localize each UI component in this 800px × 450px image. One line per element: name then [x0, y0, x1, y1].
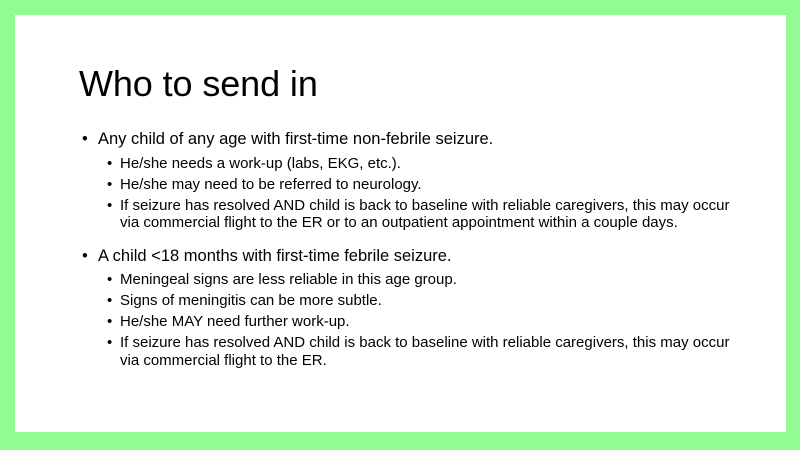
bullet-level1-text: A child <18 months with first-time febri…	[98, 247, 452, 265]
bullet-level2: • He/she may need to be referred to neur…	[79, 176, 744, 194]
bullet-level2-text: If seizure has resolved AND child is bac…	[120, 334, 744, 369]
bullet-dot-icon: •	[107, 176, 112, 194]
bullet-level2: • If seizure has resolved AND child is b…	[79, 334, 744, 369]
bullet-dot-icon: •	[82, 245, 88, 268]
bullet-level2: • He/she MAY need further work-up.	[79, 313, 744, 331]
bullet-dot-icon: •	[107, 313, 112, 331]
bullet-level2: • He/she needs a work-up (labs, EKG, etc…	[79, 155, 744, 173]
page-title: Who to send in	[79, 62, 739, 106]
bullet-dot-icon: •	[107, 292, 112, 310]
bullet-dot-icon: •	[107, 271, 112, 289]
bullet-dot-icon: •	[107, 197, 112, 215]
bullet-level2: • Signs of meningitis can be more subtle…	[79, 292, 744, 310]
bullet-level2: • If seizure has resolved AND child is b…	[79, 197, 744, 232]
bullet-dot-icon: •	[107, 334, 112, 352]
bullet-group: • Any child of any age with first-time n…	[79, 128, 744, 232]
slide-body: • Any child of any age with first-time n…	[79, 128, 744, 369]
bullet-group: • A child <18 months with first-time feb…	[79, 245, 744, 370]
slide-frame: Who to send in • Any child of any age wi…	[0, 0, 800, 450]
slide-canvas: Who to send in • Any child of any age wi…	[15, 15, 786, 432]
bullet-level2-text: He/she MAY need further work-up.	[120, 313, 744, 331]
bullet-level2: • Meningeal signs are less reliable in t…	[79, 271, 744, 289]
bullet-level2-text: He/she needs a work-up (labs, EKG, etc.)…	[120, 155, 744, 173]
bullet-dot-icon: •	[82, 128, 88, 151]
bullet-dot-icon: •	[107, 155, 112, 173]
bullet-level1-text: Any child of any age with first-time non…	[98, 130, 493, 148]
bullet-level2-text: Meningeal signs are less reliable in thi…	[120, 271, 744, 289]
bullet-level2-list: • Meningeal signs are less reliable in t…	[79, 271, 744, 369]
bullet-level2-text: He/she may need to be referred to neurol…	[120, 176, 744, 194]
bullet-level2-text: If seizure has resolved AND child is bac…	[120, 197, 744, 232]
bullet-level1: • A child <18 months with first-time feb…	[79, 245, 744, 268]
bullet-level2-text: Signs of meningitis can be more subtle.	[120, 292, 744, 310]
bullet-level2-list: • He/she needs a work-up (labs, EKG, etc…	[79, 155, 744, 232]
bullet-level1: • Any child of any age with first-time n…	[79, 128, 744, 151]
